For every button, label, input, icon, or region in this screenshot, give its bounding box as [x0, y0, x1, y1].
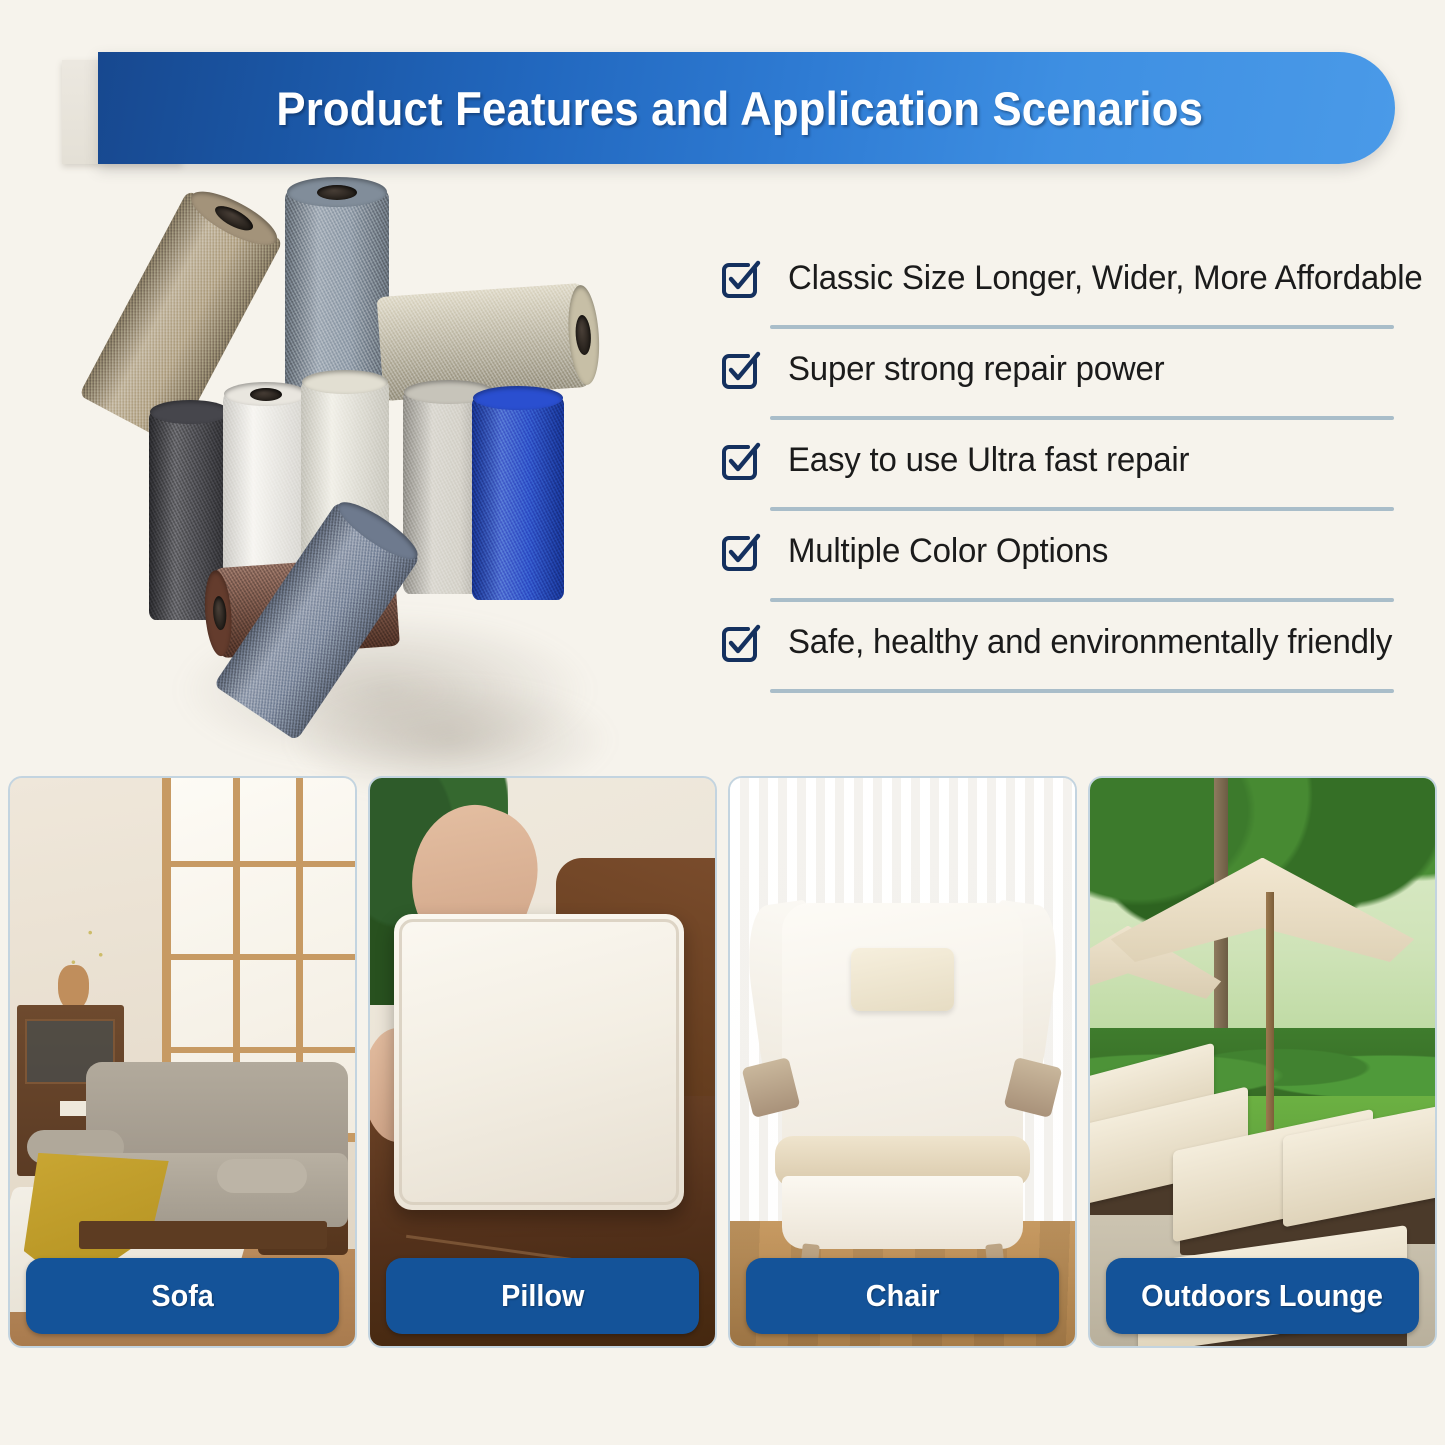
card-caption-pillow: Pillow	[386, 1258, 699, 1334]
bottom-spacer	[0, 1416, 1445, 1445]
feature-divider	[770, 507, 1394, 511]
feature-divider	[770, 689, 1394, 693]
checkbox-checked-icon	[718, 348, 762, 392]
product-image-fabric-repair-tape-rolls	[135, 180, 635, 740]
scenario-card-sofa[interactable]: Sofa	[8, 776, 357, 1348]
card-caption-sofa: Sofa	[26, 1258, 339, 1334]
feature-label: Classic Size Longer, Wider, More Afforda…	[788, 260, 1422, 297]
card-caption-label: Chair	[866, 1278, 940, 1314]
checkbox-checked-icon	[718, 439, 762, 483]
card-caption-label: Pillow	[501, 1278, 584, 1314]
feature-item: Classic Size Longer, Wider, More Afforda…	[718, 248, 1398, 339]
feature-divider	[770, 416, 1394, 420]
tape-roll-royal-blue	[472, 396, 564, 600]
header-banner: Product Features and Application Scenari…	[98, 52, 1395, 164]
features-list: Classic Size Longer, Wider, More Afforda…	[718, 248, 1398, 703]
checkbox-checked-icon	[718, 621, 762, 665]
feature-label: Multiple Color Options	[788, 533, 1108, 570]
feature-item: Multiple Color Options	[718, 521, 1398, 612]
scenario-card-chair[interactable]: Chair	[728, 776, 1077, 1348]
card-caption-label: Sofa	[151, 1278, 213, 1314]
page-title: Product Features and Application Scenari…	[277, 81, 1217, 136]
feature-item: Safe, healthy and environmentally friend…	[718, 612, 1398, 703]
feature-label: Safe, healthy and environmentally friend…	[788, 624, 1392, 661]
scenario-card-pillow[interactable]: Pillow	[368, 776, 717, 1348]
scenario-cards: Sofa Pillow	[0, 776, 1445, 1416]
card-caption-outdoors-lounge: Outdoors Lounge	[1106, 1258, 1419, 1334]
checkbox-checked-icon	[718, 257, 762, 301]
header-banner-wrap: Product Features and Application Scenari…	[0, 52, 1445, 172]
feature-item: Easy to use Ultra fast repair	[718, 430, 1398, 521]
feature-divider	[770, 598, 1394, 602]
scenario-card-outdoors-lounge[interactable]: Outdoors Lounge	[1088, 776, 1437, 1348]
checkbox-checked-icon	[718, 530, 762, 574]
feature-item: Super strong repair power	[718, 339, 1398, 430]
feature-label: Super strong repair power	[788, 351, 1164, 388]
feature-label: Easy to use Ultra fast repair	[788, 442, 1189, 479]
card-caption-chair: Chair	[746, 1258, 1059, 1334]
card-caption-label: Outdoors Lounge	[1142, 1278, 1384, 1314]
feature-divider	[770, 325, 1394, 329]
